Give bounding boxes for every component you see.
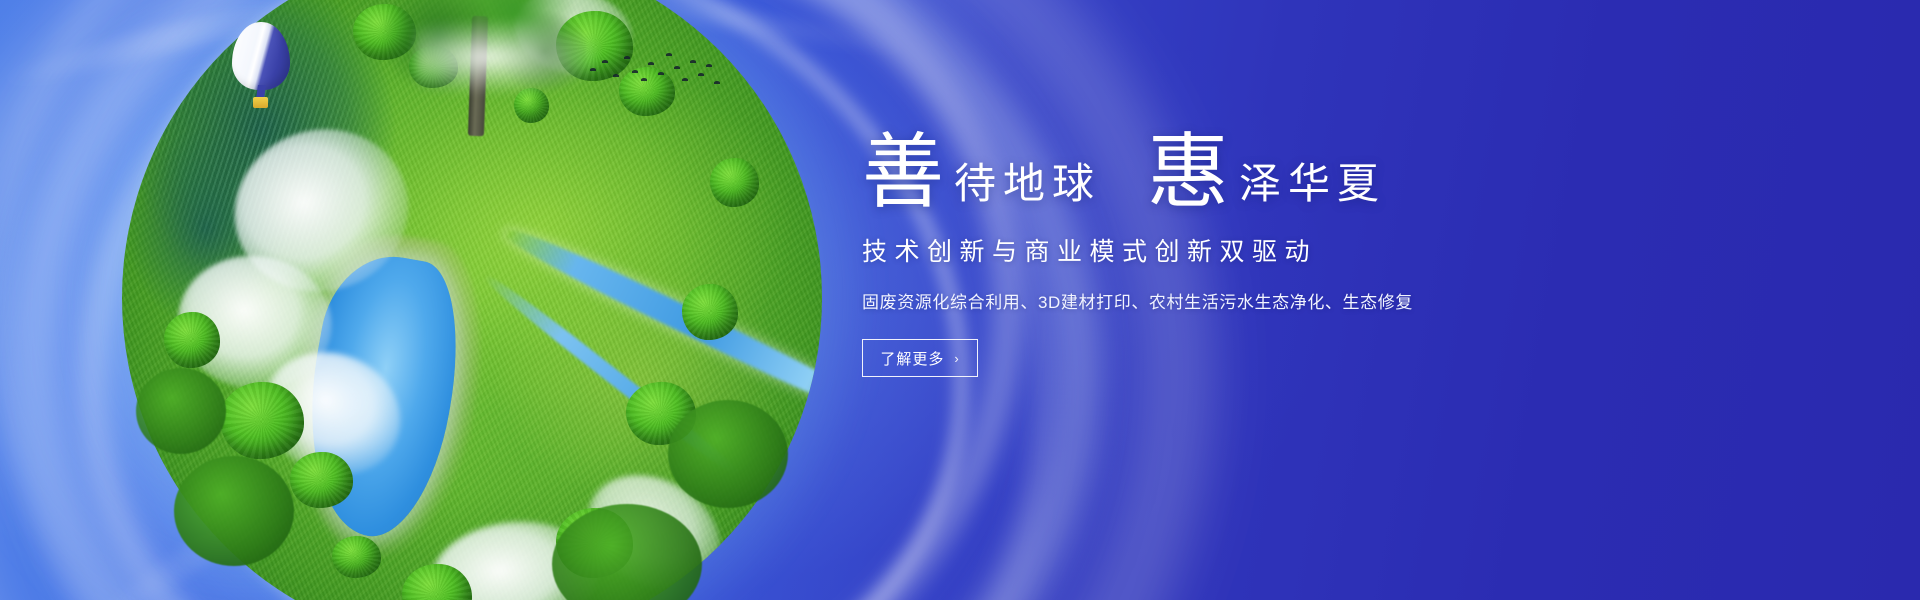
planet-tree-10 [682,284,738,340]
planet-tree-8 [164,312,220,368]
hero-content: 善 待地球 惠 泽华夏 技术创新与商业模式创新双驱动 固废资源化综合利用、3D建… [862,128,1582,377]
hero-banner: 善 待地球 惠 泽华夏 技术创新与商业模式创新双驱动 固废资源化综合利用、3D建… [0,0,1920,600]
balloon-envelope [232,22,290,90]
hero-description: 固废资源化综合利用、3D建材打印、农村生活污水生态净化、生态修复 [862,288,1582,313]
hero-headline: 善 待地球 惠 泽华夏 [862,128,1582,210]
learn-more-button[interactable]: 了解更多 › [862,339,978,377]
headline-char-hui: 惠 [1147,132,1229,214]
planet-foliage-right [668,400,788,508]
chevron-right-icon: › [954,351,959,366]
foreground-tree [376,0,586,120]
balloon-basket [253,97,268,108]
planet-tree-14 [710,158,759,207]
bird-flock [586,48,721,92]
headline-char-shan: 善 [862,132,944,214]
learn-more-label: 了解更多 [880,348,944,369]
planet-foliage-left [174,456,294,566]
planet-foliage-far-left [136,368,226,454]
hot-air-balloon [232,22,290,118]
planet-tree-7 [290,452,353,508]
planet-tree-13 [332,536,381,578]
headline-rest-zehuaxia: 泽华夏 [1229,164,1386,206]
headline-rest-daidiqiu: 待地球 [944,164,1101,206]
planet-tree-6 [220,382,304,459]
tree-mist [416,22,596,92]
hero-subtitle: 技术创新与商业模式创新双驱动 [862,232,1582,268]
